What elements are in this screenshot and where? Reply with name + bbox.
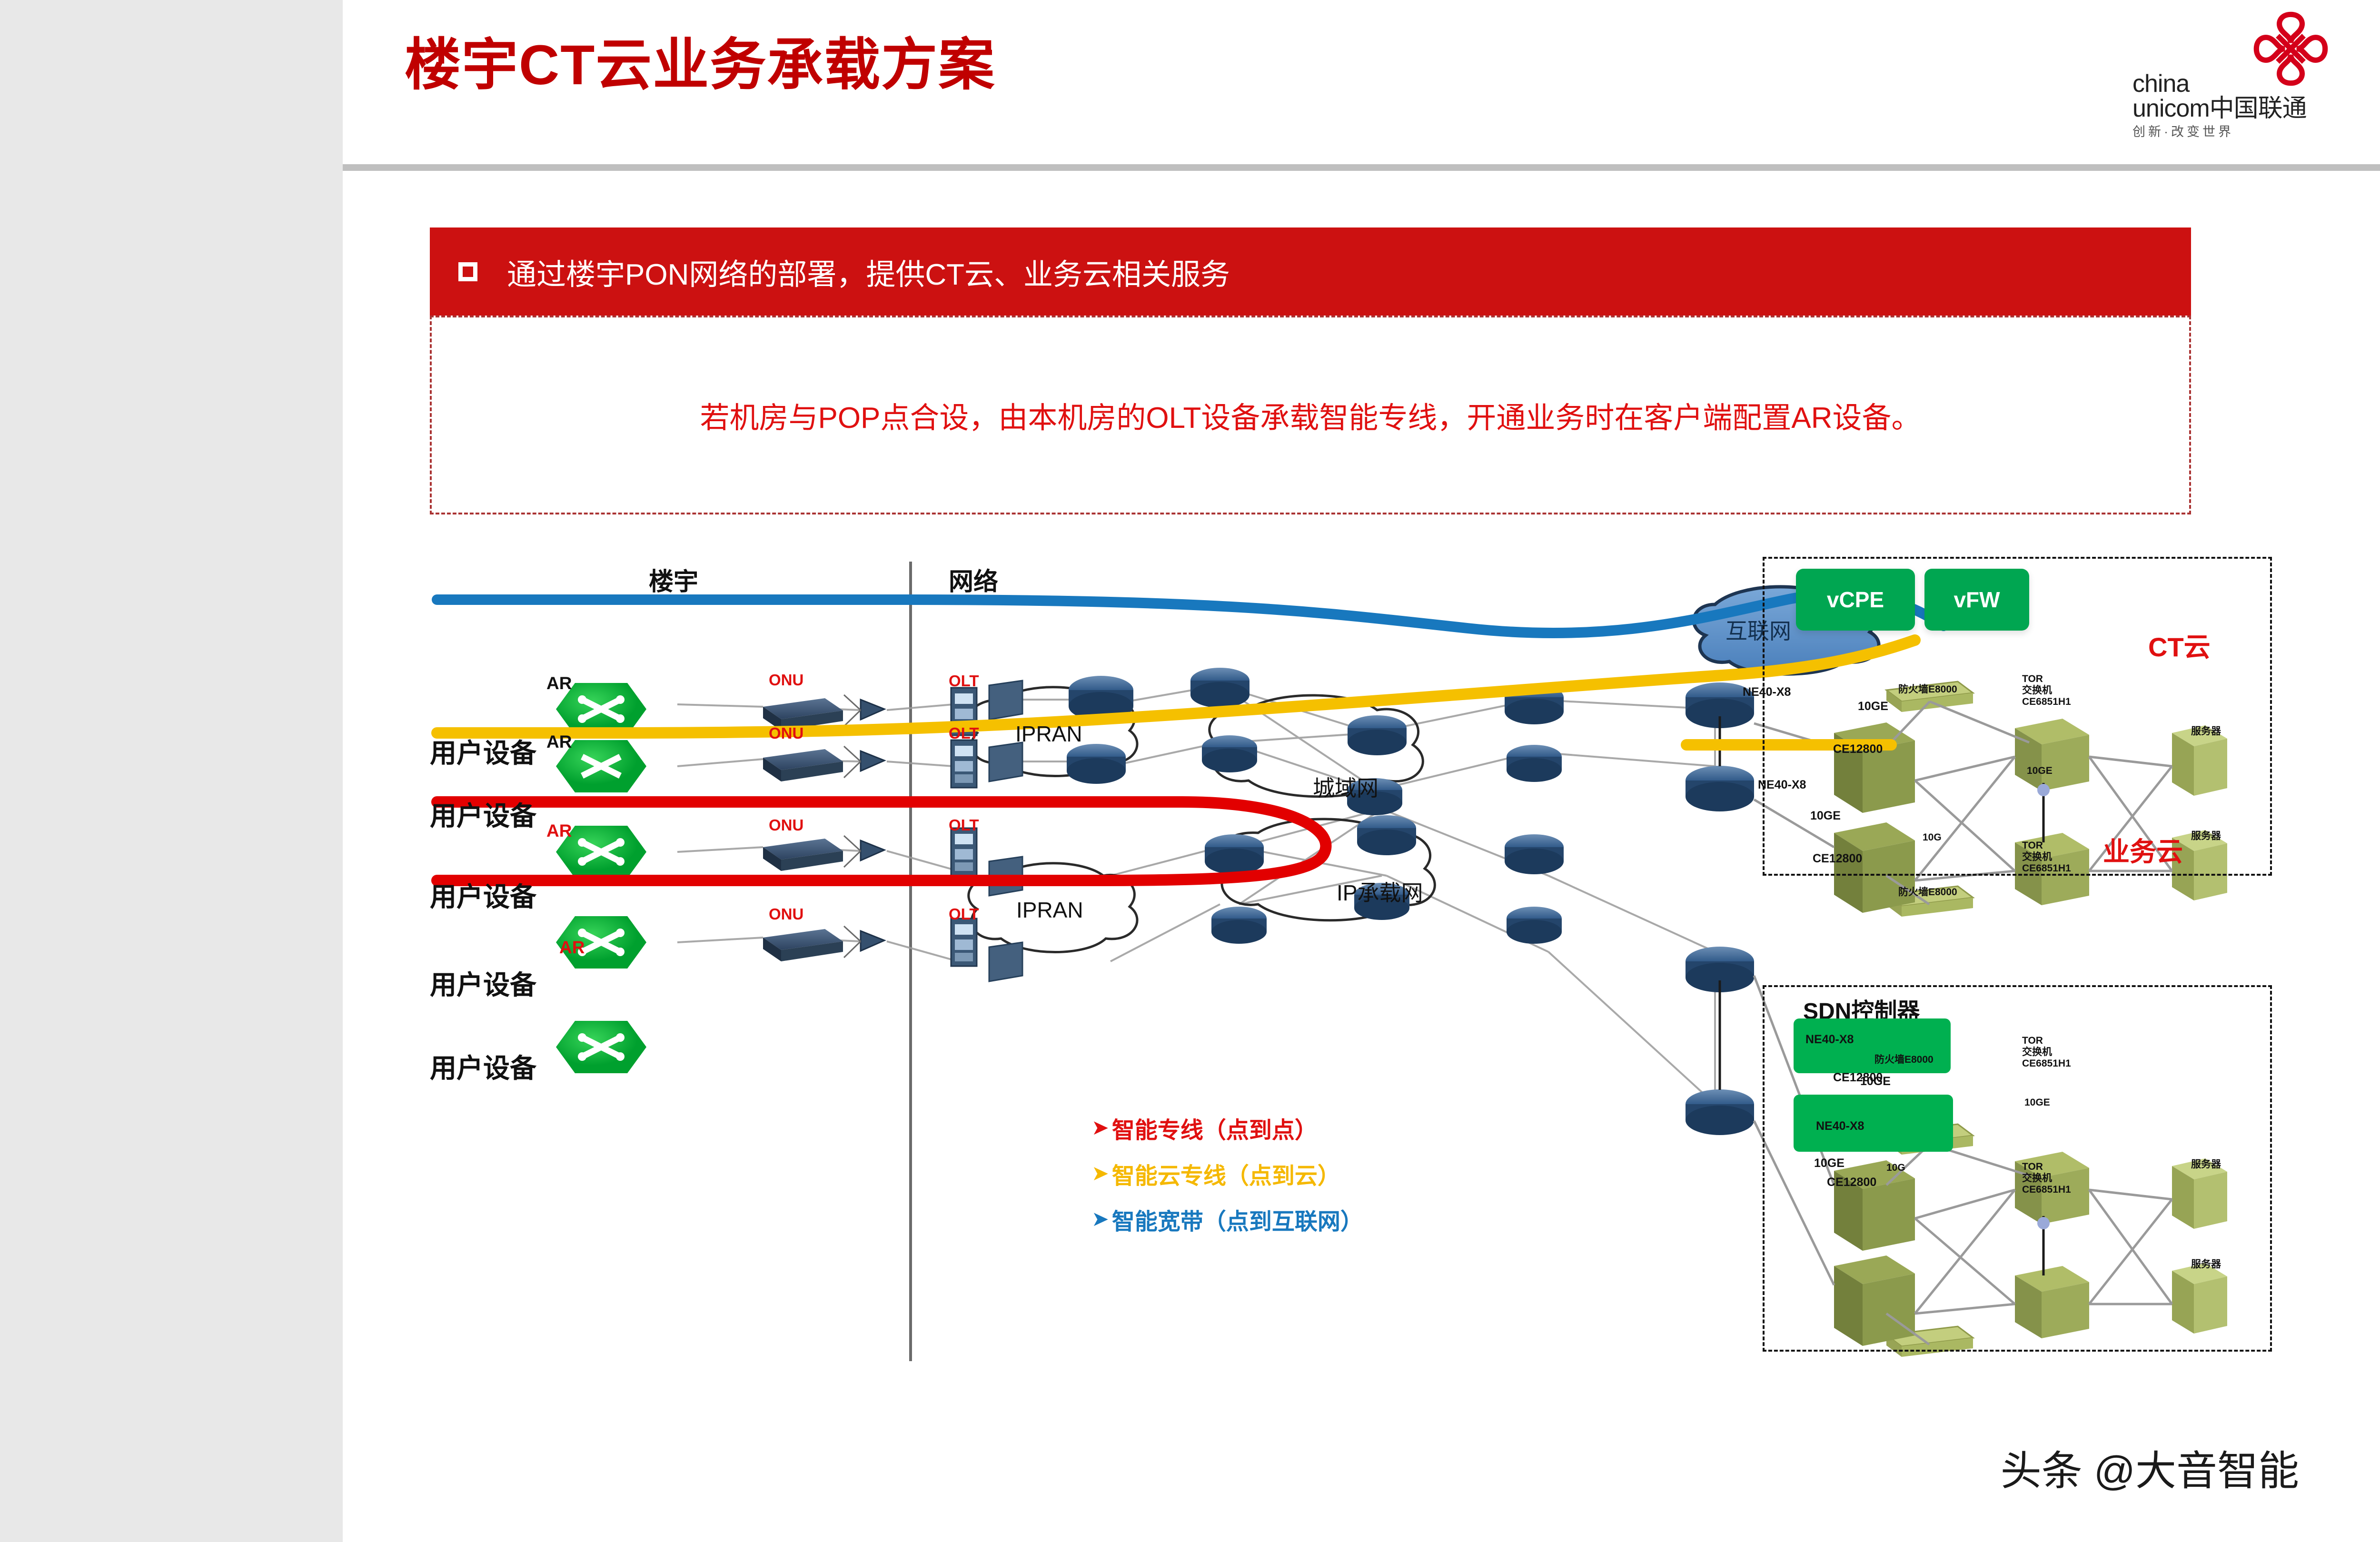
onu-label-4: ONU: [769, 905, 803, 923]
ct-10ge-label-2: 10GE: [1810, 809, 1841, 823]
vcpe-box: vCPE: [1796, 569, 1915, 631]
legend-arrow-icon-1: ➤: [1091, 1117, 1109, 1138]
vcpe-label: vCPE: [1827, 587, 1884, 613]
user-device-label-5: 用户设备: [430, 1047, 536, 1086]
ct-cloud-title: CT云: [2148, 626, 2211, 664]
ct-10ge-label-3: 10GE: [2027, 765, 2053, 777]
ct-10ge-label-1: 10GE: [1858, 700, 1888, 713]
cloud-label-metro: 城域网: [1313, 771, 1378, 802]
sdn-server-label-1: 服务器: [2191, 1156, 2221, 1171]
ar-label-3: AR: [546, 821, 572, 841]
sdn-firewall-label: 防火墙E8000: [1874, 1052, 1934, 1066]
note-box: 若机房与POP点合设，由本机房的OLT设备承载智能专线，开通业务时在客户端配置A…: [430, 316, 2191, 514]
sdn-10g-label: 10G: [1886, 1162, 1905, 1174]
cloud-label-ip-bearer: IP承载网: [1337, 876, 1423, 907]
user-device-label-2: 用户设备: [430, 795, 536, 833]
vfw-box: vFW: [1924, 569, 2029, 631]
section-header-building: 楼宇: [649, 562, 698, 597]
olt-label-4: OLT: [949, 905, 979, 923]
ct-server-label-2: 服务器: [2191, 828, 2221, 842]
legend-label-2: 智能云专线（点到云）: [1112, 1157, 1340, 1190]
ct-ne40-label-2: NE40-X8: [1758, 778, 1806, 792]
ct-ce12800-label-2: CE12800: [1813, 852, 1862, 866]
ct-ne40-label-1: NE40-X8: [1743, 685, 1791, 699]
ct-tor-label-2: TOR 交换机 CE6851H1: [2022, 840, 2071, 874]
china-unicom-logo: china unicom中国联通 创新·改变世界: [2132, 10, 2337, 157]
legend-item-cloud-line: ➤ 智能云专线（点到云）: [1091, 1157, 1363, 1190]
ar-label-1: AR: [546, 673, 572, 693]
section-header-network: 网络: [949, 562, 998, 597]
legend-item-private-line: ➤ 智能专线（点到点）: [1091, 1111, 1363, 1145]
olt-label-3: OLT: [949, 816, 979, 834]
cloud-label-ipran-2: IPRAN: [1016, 897, 1083, 923]
note-text: 若机房与POP点合设，由本机房的OLT设备承载智能专线，开通业务时在客户端配置A…: [700, 394, 1921, 436]
square-bullet-icon: [458, 262, 477, 281]
olt-label-2: OLT: [949, 724, 979, 742]
legend-label-1: 智能专线（点到点）: [1112, 1111, 1318, 1145]
ct-firewall-label-2: 防火墙E8000: [1898, 884, 1957, 899]
banner-text: 通过楼宇PON网络的部署，提供CT云、业务云相关服务: [507, 250, 1230, 293]
user-device-label-4: 用户设备: [430, 964, 536, 1002]
onu-label-1: ONU: [769, 671, 803, 689]
user-device-label-3: 用户设备: [430, 876, 536, 914]
logo-line-2: unicom中国联通: [2132, 96, 2332, 121]
ct-server-label-1: 服务器: [2191, 723, 2221, 738]
user-device-label-1: 用户设备: [430, 732, 536, 771]
network-diagram: 楼宇 网络 用户设备 用户设备 用户设备 用户设备 用户设备 AR AR AR …: [430, 543, 2334, 1399]
title-divider: [343, 164, 2380, 171]
olt-label-1: OLT: [949, 672, 979, 690]
ct-ce12800-label-1: CE12800: [1833, 742, 1883, 756]
legend-label-3: 智能宽带（点到互联网）: [1112, 1203, 1363, 1236]
sdn-ne40-label-1: NE40-X8: [1805, 1033, 1854, 1047]
vfw-label: vFW: [1954, 587, 2000, 613]
ar-label-2: AR: [546, 732, 572, 752]
sdn-10ge-label-1: 10GE: [1814, 1156, 1844, 1170]
sdn-tor-label-1: TOR 交换机 CE6851H1: [2022, 1035, 2071, 1069]
service-cloud-title: 业务云: [2103, 830, 2183, 869]
ct-10g-label: 10G: [1923, 832, 1942, 843]
sdn-ce12800-label-1: CE12800: [1833, 1071, 1883, 1085]
watermark: 头条 @大音智能: [2001, 1437, 2299, 1497]
red-banner: 通过楼宇PON网络的部署，提供CT云、业务云相关服务: [430, 227, 2191, 316]
onu-label-2: ONU: [769, 724, 803, 742]
sdn-tor-label-2: TOR 交换机 CE6851H1: [2022, 1161, 2071, 1196]
legend-arrow-icon-3: ➤: [1091, 1209, 1109, 1230]
ct-firewall-label-1: 防火墙E8000: [1898, 682, 1957, 696]
page-title: 楼宇CT云业务承载方案: [405, 19, 995, 100]
ct-tor-label-1: TOR 交换机 CE6851H1: [2022, 673, 2071, 708]
sdn-ne40-label-2: NE40-X8: [1816, 1119, 1864, 1133]
onu-label-3: ONU: [769, 816, 803, 834]
logo-tagline: 创新·改变世界: [2132, 126, 2332, 138]
sdn-10ge-label-3: 10GE: [2024, 1097, 2050, 1108]
sdn-ce12800-label-2: CE12800: [1827, 1176, 1876, 1189]
legend: ➤ 智能专线（点到点） ➤ 智能云专线（点到云） ➤ 智能宽带（点到互联网）: [1091, 1111, 1363, 1248]
legend-arrow-icon-2: ➤: [1091, 1163, 1109, 1184]
legend-item-broadband: ➤ 智能宽带（点到互联网）: [1091, 1203, 1363, 1236]
logo-line-1: china: [2132, 71, 2332, 96]
slide-canvas: 楼宇CT云业务承载方案 china unicom中国联通 创新·改变世界 通过楼…: [343, 0, 2380, 1542]
sdn-server-label-2: 服务器: [2191, 1256, 2221, 1271]
ar-label-4: AR: [559, 938, 585, 958]
cloud-label-ipran-1: IPRAN: [1015, 721, 1082, 747]
